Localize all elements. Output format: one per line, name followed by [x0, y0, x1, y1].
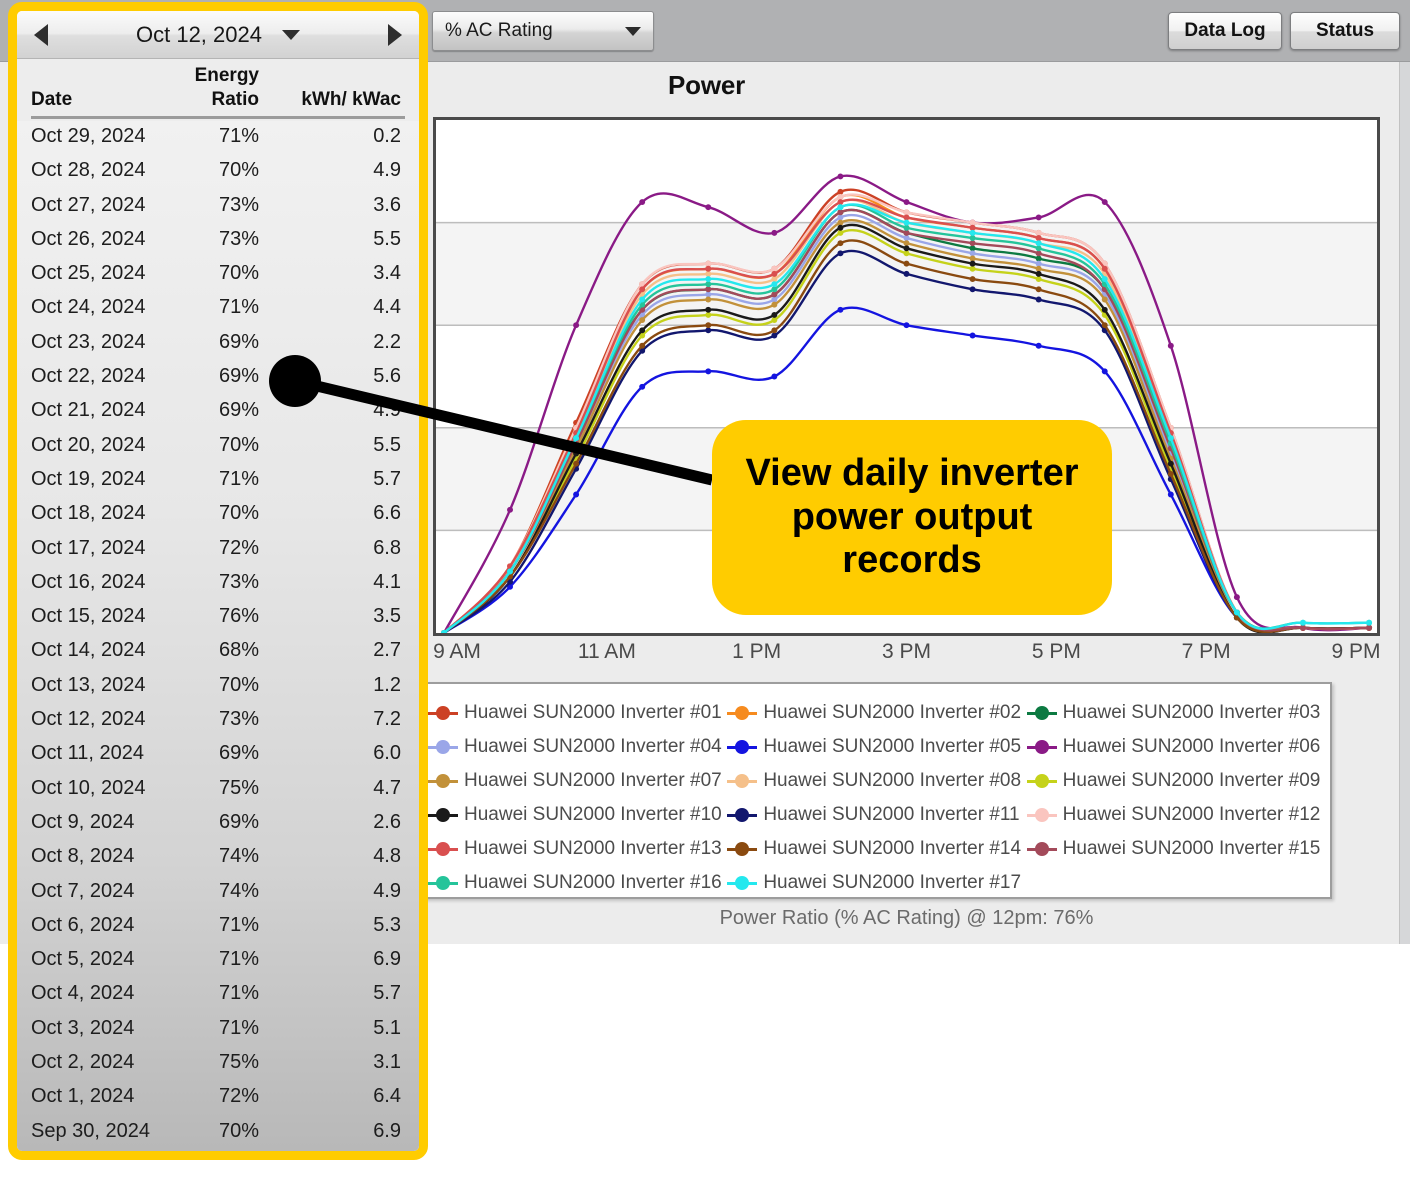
cell-date: Oct 21, 2024	[31, 399, 146, 422]
table-row[interactable]: Oct 11, 202469%6.0	[17, 738, 419, 772]
cell-kwh-per-kwac: 2.7	[263, 639, 401, 662]
cell-kwh-per-kwac: 2.6	[263, 811, 401, 834]
legend-item[interactable]: Huawei SUN2000 Inverter #03	[1027, 696, 1326, 730]
legend-label: Huawei SUN2000 Inverter #10	[464, 804, 722, 826]
cell-date: Oct 27, 2024	[31, 194, 146, 217]
cell-date: Sep 30, 2024	[31, 1120, 150, 1143]
legend-swatch-icon	[727, 739, 757, 755]
cell-kwh-per-kwac: 4.4	[263, 296, 401, 319]
x-tick-label: 1 PM	[732, 640, 781, 664]
legend-item[interactable]: Huawei SUN2000 Inverter #01	[428, 696, 727, 730]
legend-swatch-icon	[428, 705, 458, 721]
table-row[interactable]: Oct 14, 202468%2.7	[17, 635, 419, 669]
table-row[interactable]: Oct 27, 202473%3.6	[17, 190, 419, 224]
cell-date: Oct 7, 2024	[31, 880, 134, 903]
legend-swatch-icon	[1027, 739, 1057, 755]
table-row[interactable]: Oct 25, 202470%3.4	[17, 258, 419, 292]
table-row[interactable]: Oct 26, 202473%5.5	[17, 224, 419, 258]
cell-energy-ratio: 73%	[185, 228, 259, 251]
x-tick-label: 11 AM	[578, 640, 636, 664]
table-row[interactable]: Oct 21, 202469%4.9	[17, 395, 419, 429]
cell-kwh-per-kwac: 5.7	[263, 982, 401, 1005]
legend-item[interactable]: Huawei SUN2000 Inverter #12	[1027, 798, 1326, 832]
annotation-callout: View daily inverter power output records	[712, 420, 1112, 615]
table-row[interactable]: Oct 23, 202469%2.2	[17, 327, 419, 361]
legend-item[interactable]: Huawei SUN2000 Inverter #10	[428, 798, 727, 832]
legend-swatch-icon	[1027, 841, 1057, 857]
cell-energy-ratio: 75%	[185, 777, 259, 800]
cell-kwh-per-kwac: 6.0	[263, 742, 401, 765]
table-row[interactable]: Oct 24, 202471%4.4	[17, 292, 419, 326]
cell-kwh-per-kwac: 4.7	[263, 777, 401, 800]
legend-label: Huawei SUN2000 Inverter #08	[763, 770, 1021, 792]
cell-kwh-per-kwac: 6.8	[263, 537, 401, 560]
legend-swatch-icon	[727, 705, 757, 721]
legend-label: Huawei SUN2000 Inverter #06	[1063, 736, 1321, 758]
date-table-body[interactable]: Oct 29, 202471%0.2Oct 28, 202470%4.9Oct …	[17, 121, 419, 1151]
legend-item[interactable]: Huawei SUN2000 Inverter #04	[428, 730, 727, 764]
cell-date: Oct 29, 2024	[31, 125, 146, 148]
cell-kwh-per-kwac: 4.1	[263, 571, 401, 594]
cell-kwh-per-kwac: 4.9	[263, 880, 401, 903]
legend-label: Huawei SUN2000 Inverter #14	[763, 838, 1021, 860]
cell-energy-ratio: 69%	[185, 365, 259, 388]
cell-date: Oct 28, 2024	[31, 159, 146, 182]
column-header-date: Date	[31, 89, 72, 111]
cell-date: Oct 23, 2024	[31, 331, 146, 354]
legend-swatch-icon	[727, 841, 757, 857]
legend-swatch-icon	[1027, 773, 1057, 789]
table-row[interactable]: Oct 20, 202470%5.5	[17, 430, 419, 464]
legend-item[interactable]: Huawei SUN2000 Inverter #16	[428, 866, 727, 900]
table-row[interactable]: Oct 19, 202471%5.7	[17, 464, 419, 498]
date-navigation-bar: Oct 12, 2024	[17, 11, 419, 59]
cell-energy-ratio: 69%	[185, 399, 259, 422]
table-row[interactable]: Oct 17, 202472%6.8	[17, 533, 419, 567]
table-row[interactable]: Oct 4, 202471%5.7	[17, 978, 419, 1012]
cell-energy-ratio: 71%	[185, 982, 259, 1005]
cell-kwh-per-kwac: 5.1	[263, 1017, 401, 1040]
legend-swatch-icon	[428, 773, 458, 789]
legend-item[interactable]: Huawei SUN2000 Inverter #06	[1027, 730, 1326, 764]
cell-energy-ratio: 71%	[185, 468, 259, 491]
table-row[interactable]: Oct 6, 202471%5.3	[17, 910, 419, 944]
cell-energy-ratio: 73%	[185, 194, 259, 217]
cell-energy-ratio: 69%	[185, 811, 259, 834]
legend-label: Huawei SUN2000 Inverter #09	[1063, 770, 1321, 792]
cell-kwh-per-kwac: 3.6	[263, 194, 401, 217]
legend-label: Huawei SUN2000 Inverter #02	[763, 702, 1021, 724]
table-row[interactable]: Oct 28, 202470%4.9	[17, 155, 419, 189]
power-ratio-footer: Power Ratio (% AC Rating) @ 12pm: 76%	[433, 907, 1380, 930]
legend-swatch-icon	[428, 807, 458, 823]
cell-date: Oct 22, 2024	[31, 365, 146, 388]
legend-label: Huawei SUN2000 Inverter #12	[1063, 804, 1321, 826]
cell-date: Oct 16, 2024	[31, 571, 146, 594]
cell-date: Oct 20, 2024	[31, 434, 146, 457]
cell-kwh-per-kwac: 3.4	[263, 262, 401, 285]
legend-label: Huawei SUN2000 Inverter #13	[464, 838, 722, 860]
legend-label: Huawei SUN2000 Inverter #16	[464, 872, 722, 894]
status-button[interactable]: Status	[1290, 12, 1400, 50]
legend-label: Huawei SUN2000 Inverter #17	[763, 872, 1021, 894]
cell-energy-ratio: 71%	[185, 914, 259, 937]
cell-date: Oct 3, 2024	[31, 1017, 134, 1040]
legend-swatch-icon	[428, 841, 458, 857]
cell-kwh-per-kwac: 6.6	[263, 502, 401, 525]
table-row[interactable]: Oct 16, 202473%4.1	[17, 567, 419, 601]
cell-kwh-per-kwac: 5.5	[263, 228, 401, 251]
legend-item[interactable]: Huawei SUN2000 Inverter #09	[1027, 764, 1326, 798]
column-header-energy: Energy	[185, 65, 259, 87]
cell-kwh-per-kwac: 5.6	[263, 365, 401, 388]
cell-date: Oct 24, 2024	[31, 296, 146, 319]
x-axis-tick-labels: 9 AM11 AM1 PM3 PM5 PM7 PM9 PM	[433, 640, 1380, 676]
cell-energy-ratio: 70%	[185, 159, 259, 182]
cell-date: Oct 10, 2024	[31, 777, 146, 800]
cell-energy-ratio: 76%	[185, 605, 259, 628]
legend-swatch-icon	[1027, 807, 1057, 823]
table-row[interactable]: Oct 2, 202475%3.1	[17, 1047, 419, 1081]
cell-kwh-per-kwac: 5.3	[263, 914, 401, 937]
table-header: Date Energy Ratio kWh/ kWac	[17, 59, 419, 121]
chart-title: Power	[668, 70, 745, 101]
cell-kwh-per-kwac: 4.9	[263, 159, 401, 182]
cell-energy-ratio: 70%	[185, 262, 259, 285]
header-divider	[31, 116, 405, 119]
chart-legend: Huawei SUN2000 Inverter #01Huawei SUN200…	[416, 682, 1332, 899]
cell-date: Oct 26, 2024	[31, 228, 146, 251]
next-date-button[interactable]	[371, 11, 419, 59]
cell-energy-ratio: 69%	[185, 742, 259, 765]
legend-label: Huawei SUN2000 Inverter #03	[1063, 702, 1321, 724]
legend-item[interactable]: Huawei SUN2000 Inverter #17	[727, 866, 1026, 900]
cell-date: Oct 9, 2024	[31, 811, 134, 834]
legend-swatch-icon	[428, 875, 458, 891]
legend-label: Huawei SUN2000 Inverter #11	[763, 804, 1019, 826]
x-tick-label: 9 AM	[433, 640, 481, 664]
cell-energy-ratio: 73%	[185, 708, 259, 731]
legend-label: Huawei SUN2000 Inverter #15	[1063, 838, 1321, 860]
cell-date: Oct 6, 2024	[31, 914, 134, 937]
chevron-down-icon	[625, 27, 641, 36]
cell-kwh-per-kwac: 0.2	[263, 125, 401, 148]
unit-select[interactable]: % AC Rating	[432, 11, 654, 51]
table-row[interactable]: Oct 7, 202474%4.9	[17, 876, 419, 910]
unit-select-label: % AC Rating	[445, 20, 553, 42]
legend-item[interactable]: Huawei SUN2000 Inverter #11	[727, 798, 1026, 832]
table-row[interactable]: Oct 1, 202472%6.4	[17, 1081, 419, 1115]
triangle-right-icon	[388, 24, 402, 46]
cell-date: Oct 2, 2024	[31, 1051, 134, 1074]
legend-swatch-icon	[428, 739, 458, 755]
cell-kwh-per-kwac: 4.8	[263, 845, 401, 868]
table-row[interactable]: Sep 30, 202470%6.9	[17, 1116, 419, 1150]
cell-energy-ratio: 71%	[185, 948, 259, 971]
cell-energy-ratio: 71%	[185, 125, 259, 148]
legend-item[interactable]: Huawei SUN2000 Inverter #05	[727, 730, 1026, 764]
cell-energy-ratio: 75%	[185, 1051, 259, 1074]
legend-item[interactable]: Huawei SUN2000 Inverter #07	[428, 764, 727, 798]
cell-energy-ratio: 71%	[185, 1017, 259, 1040]
cell-energy-ratio: 72%	[185, 1085, 259, 1108]
legend-swatch-icon	[727, 807, 757, 823]
annotation-callout-text: View daily inverter power output records	[712, 452, 1112, 583]
cell-date: Oct 15, 2024	[31, 605, 146, 628]
cell-date: Oct 14, 2024	[31, 639, 146, 662]
legend-label: Huawei SUN2000 Inverter #04	[464, 736, 722, 758]
table-row[interactable]: Oct 8, 202474%4.8	[17, 841, 419, 875]
cell-kwh-per-kwac: 6.4	[263, 1085, 401, 1108]
x-tick-label: 3 PM	[882, 640, 931, 664]
cell-kwh-per-kwac: 7.2	[263, 708, 401, 731]
cell-date: Oct 1, 2024	[31, 1085, 134, 1108]
table-row[interactable]: Oct 18, 202470%6.6	[17, 498, 419, 532]
cell-date: Oct 8, 2024	[31, 845, 134, 868]
cell-energy-ratio: 70%	[185, 1120, 259, 1143]
table-row[interactable]: Oct 29, 202471%0.2	[17, 121, 419, 155]
date-dropdown[interactable]: Oct 12, 2024	[65, 22, 371, 48]
cell-kwh-per-kwac: 4.9	[263, 399, 401, 422]
cell-kwh-per-kwac: 5.7	[263, 468, 401, 491]
legend-swatch-icon	[727, 875, 757, 891]
cell-kwh-per-kwac: 3.1	[263, 1051, 401, 1074]
cell-energy-ratio: 70%	[185, 502, 259, 525]
cell-energy-ratio: 70%	[185, 674, 259, 697]
cell-energy-ratio: 70%	[185, 434, 259, 457]
table-row[interactable]: Oct 12, 202473%7.2	[17, 704, 419, 738]
table-row[interactable]: Oct 3, 202471%5.1	[17, 1013, 419, 1047]
x-tick-label: 9 PM	[1331, 640, 1380, 664]
legend-item[interactable]: Huawei SUN2000 Inverter #02	[727, 696, 1026, 730]
data-log-button[interactable]: Data Log	[1168, 12, 1282, 50]
cell-energy-ratio: 68%	[185, 639, 259, 662]
selected-date-label: Oct 12, 2024	[136, 22, 262, 48]
table-row[interactable]: Oct 22, 202469%5.6	[17, 361, 419, 395]
legend-item[interactable]: Huawei SUN2000 Inverter #08	[727, 764, 1026, 798]
cell-date: Oct 4, 2024	[31, 982, 134, 1005]
cell-kwh-per-kwac: 3.5	[263, 605, 401, 628]
cell-date: Oct 13, 2024	[31, 674, 146, 697]
cell-date: Oct 19, 2024	[31, 468, 146, 491]
cell-energy-ratio: 73%	[185, 571, 259, 594]
cell-kwh-per-kwac: 1.2	[263, 674, 401, 697]
triangle-left-icon	[34, 24, 48, 46]
legend-swatch-icon	[727, 773, 757, 789]
cell-kwh-per-kwac: 2.2	[263, 331, 401, 354]
cell-kwh-per-kwac: 5.5	[263, 434, 401, 457]
column-header-kwh-kwac: kWh/ kWac	[263, 89, 401, 111]
table-row[interactable]: Oct 13, 202470%1.2	[17, 670, 419, 704]
chevron-down-icon	[282, 30, 300, 40]
cell-date: Oct 5, 2024	[31, 948, 134, 971]
cell-energy-ratio: 71%	[185, 296, 259, 319]
legend-label: Huawei SUN2000 Inverter #01	[464, 702, 722, 724]
cell-date: Oct 11, 2024	[31, 742, 144, 765]
table-row[interactable]: Oct 5, 202471%6.9	[17, 944, 419, 978]
cell-energy-ratio: 69%	[185, 331, 259, 354]
legend-label: Huawei SUN2000 Inverter #07	[464, 770, 722, 792]
cell-energy-ratio: 72%	[185, 537, 259, 560]
cell-date: Oct 18, 2024	[31, 502, 146, 525]
table-row[interactable]: Oct 9, 202469%2.6	[17, 807, 419, 841]
cell-kwh-per-kwac: 6.9	[263, 948, 401, 971]
table-row[interactable]: Oct 15, 202476%3.5	[17, 601, 419, 635]
legend-swatch-icon	[1027, 705, 1057, 721]
cell-energy-ratio: 74%	[185, 845, 259, 868]
table-row[interactable]: Oct 10, 202475%4.7	[17, 773, 419, 807]
cell-date: Oct 17, 2024	[31, 537, 146, 560]
legend-item[interactable]: Huawei SUN2000 Inverter #15	[1027, 832, 1326, 866]
date-selector-panel: Oct 12, 2024 Date Energy Ratio kWh/ kWac…	[8, 2, 428, 1160]
x-tick-label: 5 PM	[1032, 640, 1081, 664]
x-tick-label: 7 PM	[1182, 640, 1231, 664]
cell-kwh-per-kwac: 6.9	[263, 1120, 401, 1143]
legend-item[interactable]: Huawei SUN2000 Inverter #13	[428, 832, 727, 866]
legend-item[interactable]: Huawei SUN2000 Inverter #14	[727, 832, 1026, 866]
column-header-ratio: Ratio	[185, 89, 259, 111]
legend-label: Huawei SUN2000 Inverter #05	[763, 736, 1021, 758]
previous-date-button[interactable]	[17, 11, 65, 59]
cell-date: Oct 25, 2024	[31, 262, 146, 285]
cell-date: Oct 12, 2024	[31, 708, 146, 731]
cell-energy-ratio: 74%	[185, 880, 259, 903]
